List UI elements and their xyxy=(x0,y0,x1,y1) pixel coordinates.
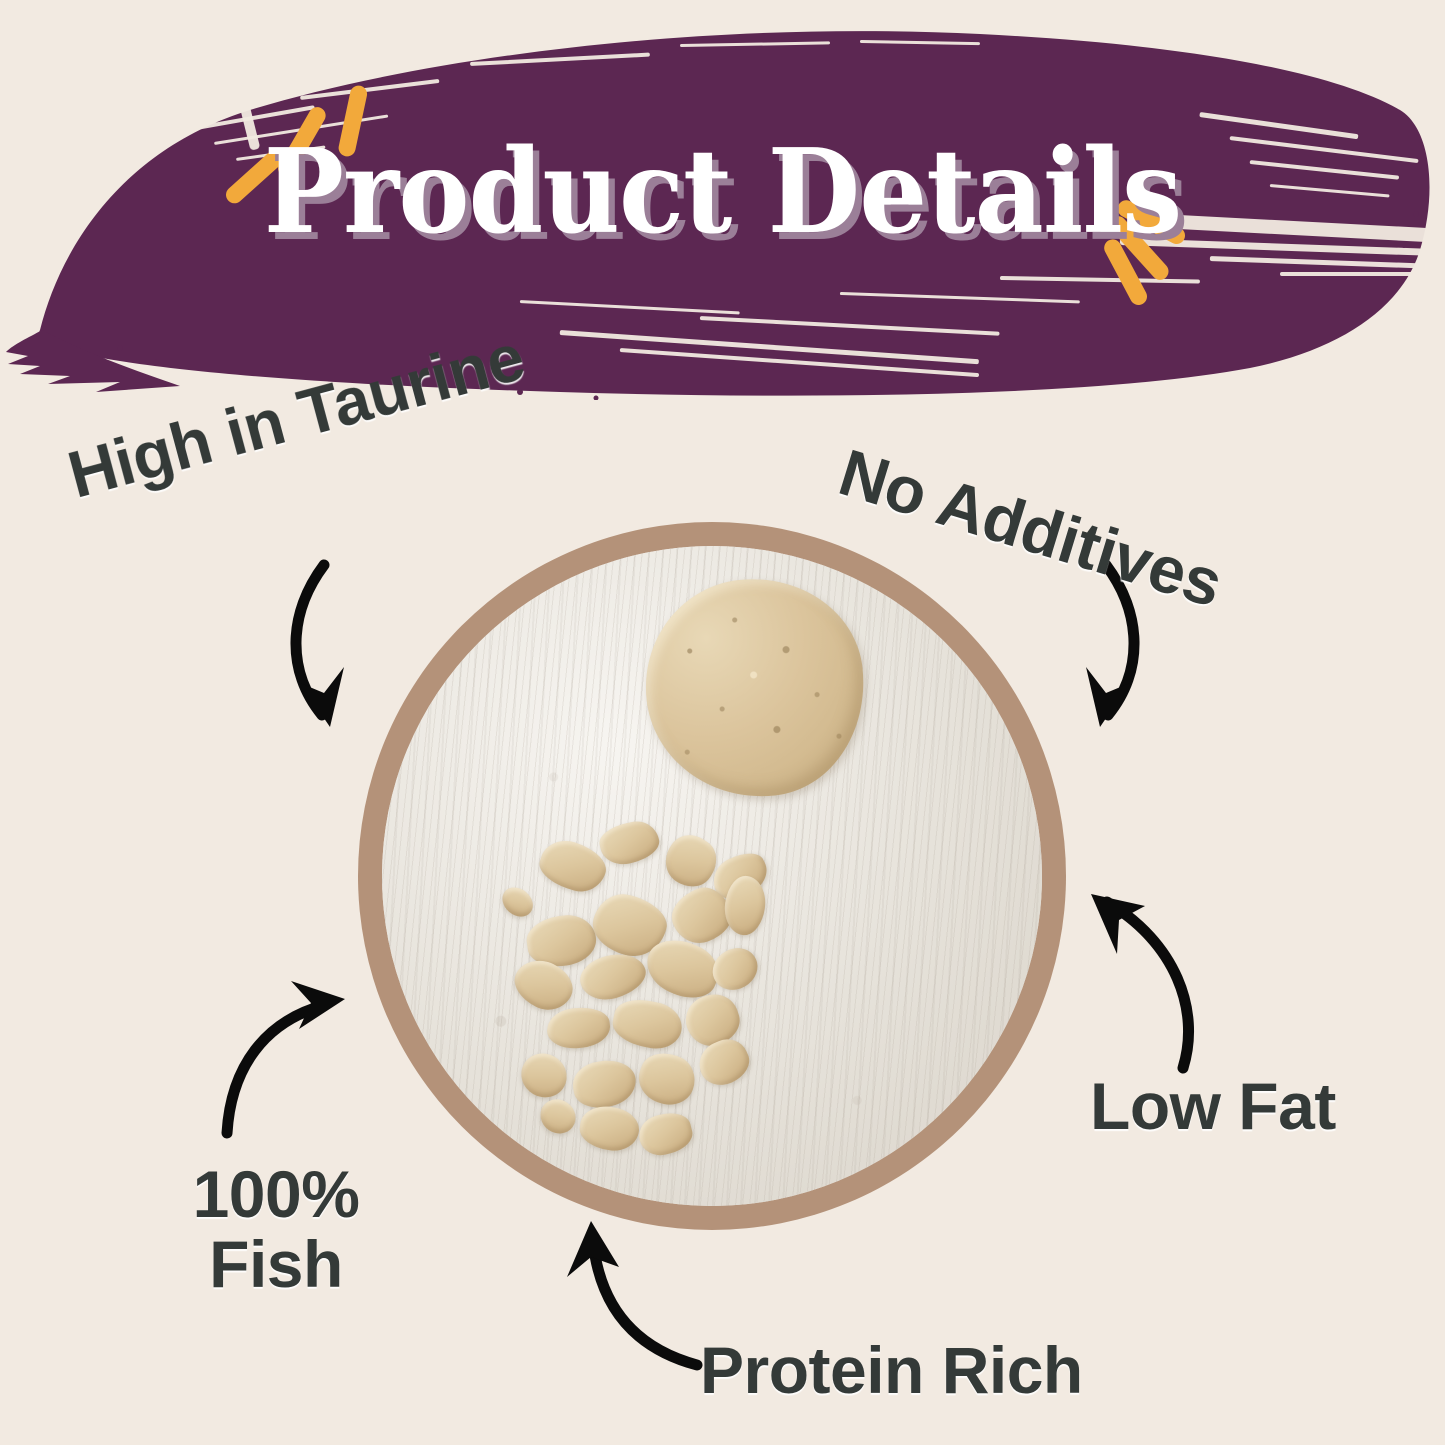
feature-label-100-fish-line2: Fish xyxy=(166,1230,386,1300)
arrow-low-fat xyxy=(1055,880,1225,1080)
product-photo-ring xyxy=(358,522,1066,1230)
feature-label-protein-rich: Protein Rich xyxy=(700,1332,1083,1408)
arrow-high-taurine xyxy=(270,555,430,755)
product-photo xyxy=(382,546,1042,1206)
arrow-protein-rich xyxy=(545,1205,725,1375)
feature-label-100-fish: 100% Fish xyxy=(166,1160,386,1300)
feature-label-low-fat: Low Fat xyxy=(1090,1068,1336,1144)
arrow-100-fish xyxy=(195,975,375,1145)
feature-label-100-fish-line1: 100% xyxy=(166,1160,386,1230)
page-title: Product Details xyxy=(58,132,1387,254)
header-banner: Product Details xyxy=(0,0,1445,400)
infographic-canvas: Product Details xyxy=(0,0,1445,1445)
